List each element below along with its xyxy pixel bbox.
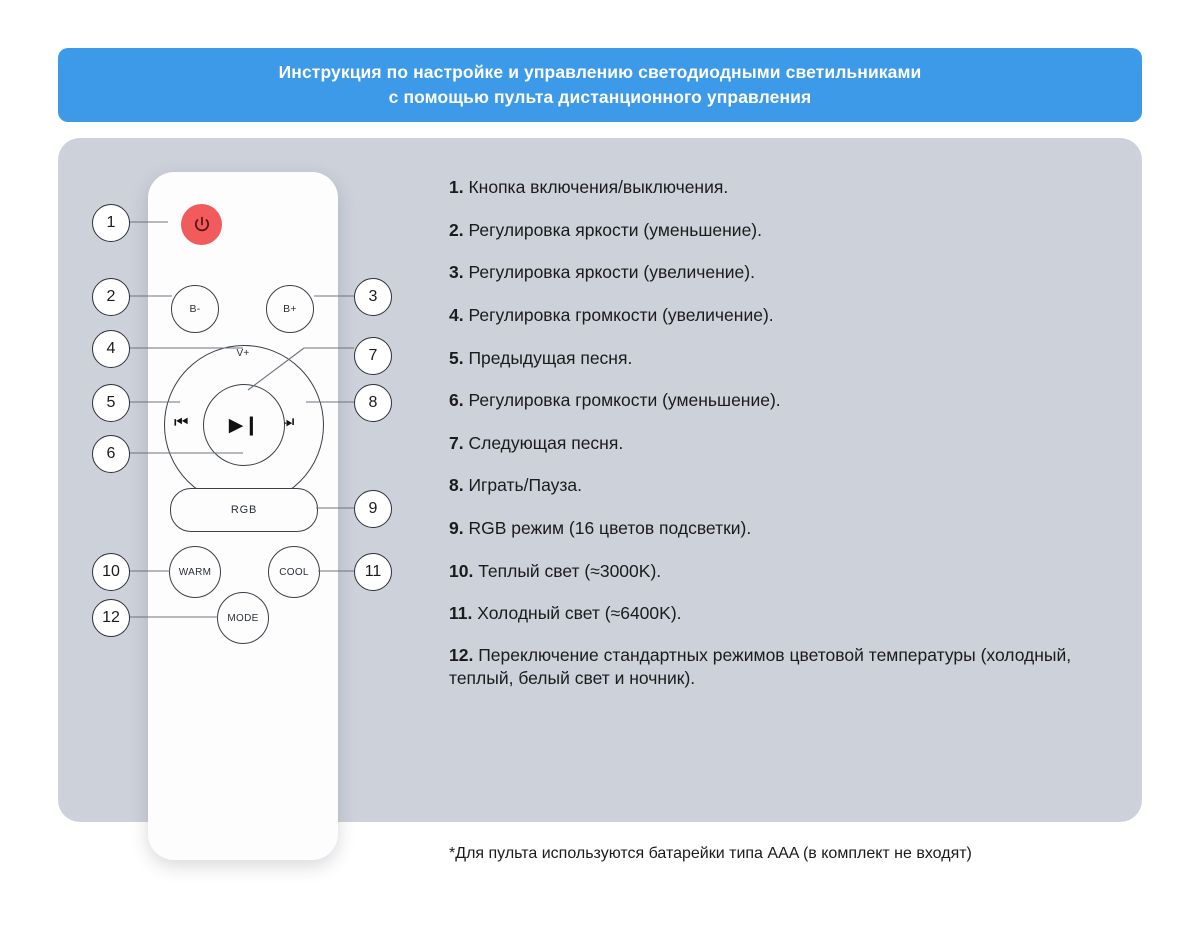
brightness-down-button[interactable]: B- <box>171 285 219 333</box>
play-pause-icon: ▶❙ <box>229 416 260 435</box>
play-pause-button[interactable]: ▶❙ <box>203 384 285 466</box>
instruction-number: 3. <box>449 262 464 282</box>
remote-control-body: B- B+ V+ V- ⏮ ⏭ ▶❙ RGB WARM COOL MODE <box>148 172 338 860</box>
instruction-text: Предыдущая песня. <box>464 348 633 368</box>
callout-marker-10: 10 <box>92 553 130 591</box>
brightness-up-button[interactable]: B+ <box>266 285 314 333</box>
instruction-item: 6. Регулировка громкости (уменьшение). <box>449 388 1099 412</box>
cool-label: COOL <box>279 567 309 578</box>
instruction-item: 11. Холодный свет (≈6400K). <box>449 601 1099 625</box>
instruction-text: RGB режим (16 цветов подсветки). <box>464 518 752 538</box>
callout-number: 6 <box>107 445 116 463</box>
instruction-number: 11. <box>449 603 472 623</box>
page-title: Инструкция по настройке и управлению све… <box>279 60 922 111</box>
previous-track-icon[interactable]: ⏮ <box>174 415 188 431</box>
instruction-number: 4. <box>449 305 464 325</box>
callout-number: 1 <box>107 214 116 232</box>
callout-number: 5 <box>107 394 116 412</box>
instruction-number: 9. <box>449 518 464 538</box>
instruction-item: 2. Регулировка яркости (уменьшение). <box>449 218 1099 242</box>
rgb-label: RGB <box>231 504 257 516</box>
callout-marker-11: 11 <box>354 553 392 591</box>
callout-number: 3 <box>369 288 378 306</box>
warm-button[interactable]: WARM <box>169 546 221 598</box>
callout-marker-3: 3 <box>354 278 392 316</box>
instruction-number: 1. <box>449 177 464 197</box>
callout-number: 10 <box>102 563 120 581</box>
instruction-item: 10. Теплый свет (≈3000K). <box>449 559 1099 583</box>
warm-label: WARM <box>179 567 212 578</box>
callout-number: 4 <box>107 340 116 358</box>
power-button[interactable] <box>181 204 222 245</box>
callout-marker-2: 2 <box>92 278 130 316</box>
instruction-item: 12. Переключение стандартных режимов цве… <box>449 644 1099 690</box>
power-icon <box>192 215 212 235</box>
callout-marker-9: 9 <box>354 490 392 528</box>
instruction-text: Кнопка включения/выключения. <box>464 177 729 197</box>
callout-marker-12: 12 <box>92 599 130 637</box>
callout-marker-7: 7 <box>354 337 392 375</box>
cool-button[interactable]: COOL <box>268 546 320 598</box>
callout-marker-5: 5 <box>92 384 130 422</box>
instruction-text: Регулировка громкости (уменьшение). <box>464 390 781 410</box>
callout-number: 8 <box>369 394 378 412</box>
mode-label: MODE <box>227 613 258 624</box>
callout-number: 12 <box>102 609 120 627</box>
mode-button[interactable]: MODE <box>217 592 269 644</box>
instruction-number: 2. <box>449 220 464 240</box>
instruction-item: 5. Предыдущая песня. <box>449 346 1099 370</box>
instruction-item: 8. Играть/Пауза. <box>449 473 1099 497</box>
rgb-button[interactable]: RGB <box>170 488 318 532</box>
brightness-down-label: B- <box>189 303 200 315</box>
instruction-text: Холодный свет (≈6400K). <box>472 603 681 623</box>
instruction-text: Следующая песня. <box>464 433 624 453</box>
instruction-list: 1. Кнопка включения/выключения.2. Регули… <box>449 175 1099 709</box>
callout-number: 7 <box>369 347 378 365</box>
instruction-item: 3. Регулировка яркости (увеличение). <box>449 260 1099 284</box>
instruction-item: 4. Регулировка громкости (увеличение). <box>449 303 1099 327</box>
instruction-number: 5. <box>449 348 464 368</box>
header-line-2: с помощью пульта дистанционного управлен… <box>279 85 922 110</box>
instruction-text: Играть/Пауза. <box>464 475 582 495</box>
callout-number: 11 <box>365 563 382 581</box>
brightness-up-label: B+ <box>283 303 297 315</box>
instruction-number: 7. <box>449 433 464 453</box>
instruction-item: 1. Кнопка включения/выключения. <box>449 175 1099 199</box>
instruction-text: Теплый свет (≈3000K). <box>473 561 661 581</box>
header-line-1: Инструкция по настройке и управлению све… <box>279 62 922 82</box>
instruction-text: Регулировка громкости (увеличение). <box>464 305 774 325</box>
instruction-number: 6. <box>449 390 464 410</box>
callout-marker-4: 4 <box>92 330 130 368</box>
volume-up-button[interactable]: V+ <box>223 348 263 359</box>
instruction-text: Переключение стандартных режимов цветово… <box>449 645 1071 688</box>
instruction-item: 9. RGB режим (16 цветов подсветки). <box>449 516 1099 540</box>
header-banner: Инструкция по настройке и управлению све… <box>58 48 1142 122</box>
callout-marker-1: 1 <box>92 204 130 242</box>
footnote: *Для пульта используются батарейки типа … <box>449 845 1149 863</box>
instruction-number: 8. <box>449 475 464 495</box>
instruction-number: 12. <box>449 645 473 665</box>
callout-marker-8: 8 <box>354 384 392 422</box>
callout-marker-6: 6 <box>92 435 130 473</box>
instruction-item: 7. Следующая песня. <box>449 431 1099 455</box>
callout-number: 2 <box>107 288 116 306</box>
instruction-text: Регулировка яркости (уменьшение). <box>464 220 762 240</box>
instruction-number: 10. <box>449 561 473 581</box>
callout-number: 9 <box>369 500 378 518</box>
instruction-text: Регулировка яркости (увеличение). <box>464 262 755 282</box>
